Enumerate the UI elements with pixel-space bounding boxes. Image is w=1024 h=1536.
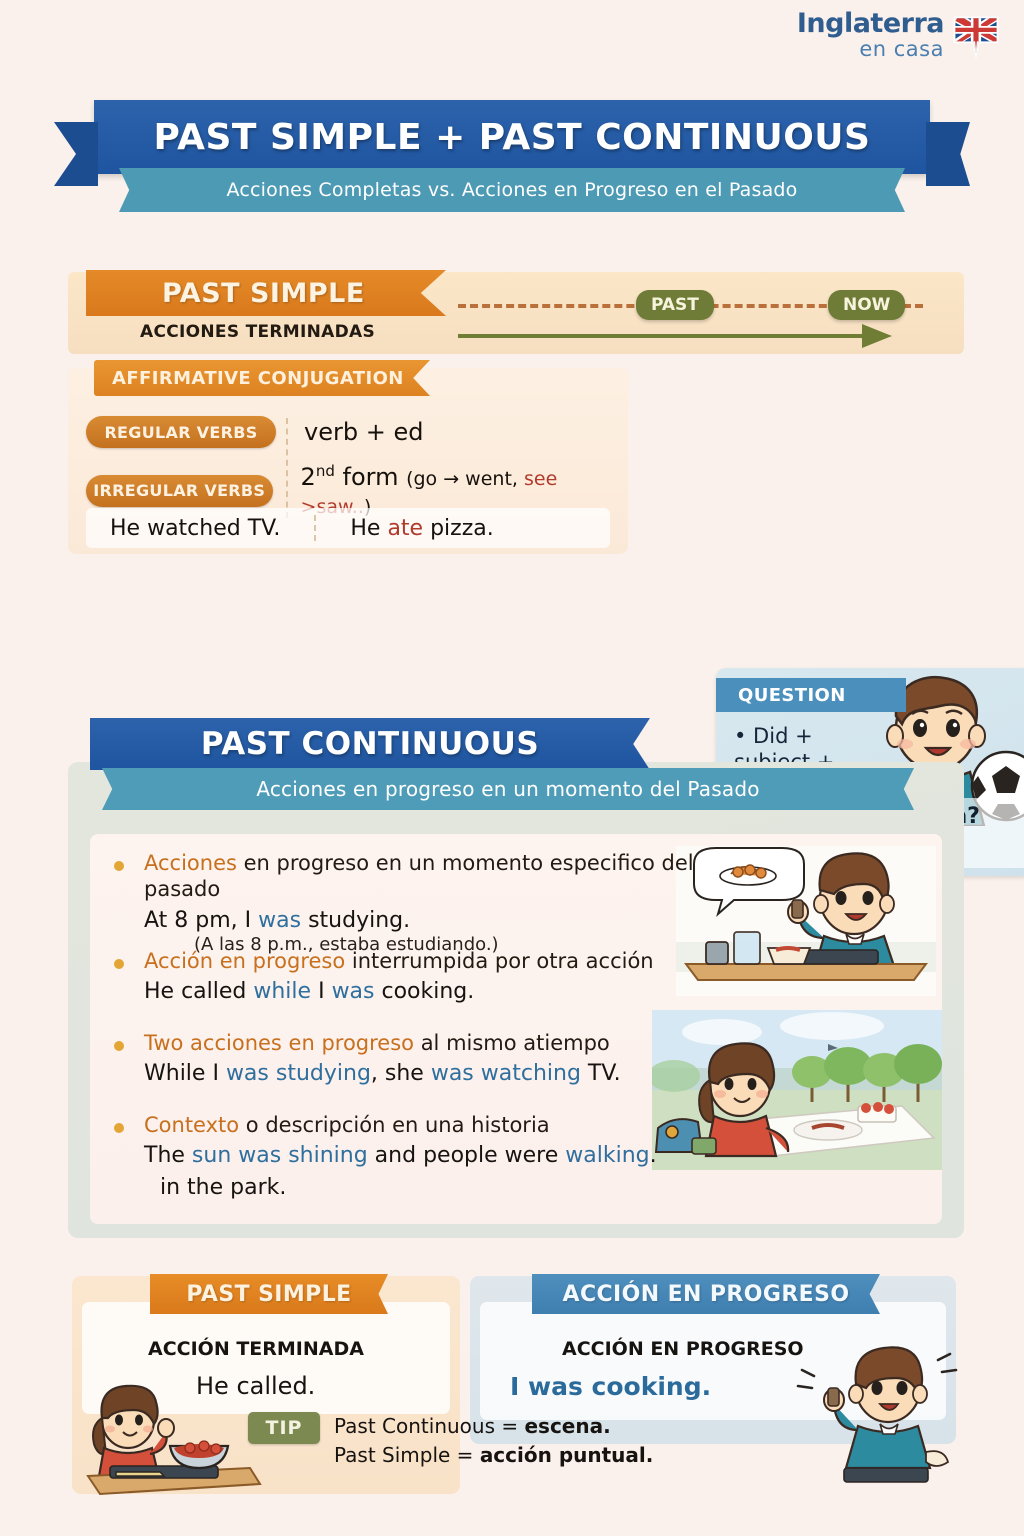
logo-line-2: en casa bbox=[797, 38, 944, 60]
affirmative-tab: AFFIRMATIVE CONJUGATION bbox=[94, 360, 430, 396]
bullet-example: At 8 pm, I was studying. bbox=[144, 907, 734, 935]
affirmative-tab-label: AFFIRMATIVE CONJUGATION bbox=[112, 368, 404, 389]
example-divider bbox=[314, 515, 316, 541]
tip-text: Past Continuous = escena. Past Simple = … bbox=[334, 1412, 653, 1470]
past-simple-tab: PAST SIMPLE bbox=[86, 270, 446, 316]
past-simple-topbar: PAST SIMPLE ACCIONES TERMINADAS PAST NOW bbox=[68, 272, 964, 354]
tip-line2-prefix: Past Simple = bbox=[334, 1443, 480, 1467]
conjugation-examples-row: He watched TV. He ate pizza. bbox=[86, 508, 610, 548]
bullet-example: He called while I was cooking. bbox=[144, 978, 734, 1006]
title-banner: PAST SIMPLE + PAST CONTINUOUS Acciones C… bbox=[0, 100, 1024, 212]
regular-verbs-label: REGULAR VERBS bbox=[86, 416, 276, 448]
logo-line-1: Inglaterra bbox=[797, 10, 944, 38]
comparison-right-tab: ACCIÓN EN PROGRESO bbox=[532, 1274, 880, 1314]
girl-with-bowl-illustration bbox=[74, 1384, 264, 1496]
timeline-arrow-line bbox=[458, 334, 868, 338]
tip-line1-prefix: Past Continuous = bbox=[334, 1414, 524, 1438]
irregular-verbs-label: IRREGULAR VERBS bbox=[86, 475, 273, 507]
uk-flag-icon bbox=[950, 14, 1002, 62]
comparison-left-heading: ACCIÓN TERMINADA bbox=[148, 1338, 364, 1360]
irregular-ordinal-number: 2 bbox=[301, 463, 316, 491]
past-continuous-title: PAST CONTINUOUS bbox=[201, 726, 539, 762]
comparison-left-tab: PAST SIMPLE bbox=[150, 1274, 388, 1314]
timeline-now-pill: NOW bbox=[828, 290, 905, 320]
irregular-example-verb: ate bbox=[387, 516, 423, 541]
timeline-arrow-head-icon bbox=[862, 324, 892, 348]
past-continuous-subtitle: Acciones en progreso en un momento del P… bbox=[128, 768, 888, 810]
comparison-section: ACCIÓN TERMINADA He called. PAST SIMPLE bbox=[72, 1262, 956, 1512]
bullet-dot-icon bbox=[114, 1123, 124, 1133]
timeline-past-pill: PAST bbox=[636, 290, 714, 320]
bullet-dot-icon bbox=[114, 861, 124, 871]
tip-line1-bold: escena. bbox=[524, 1414, 610, 1438]
irregular-example-open: (go → went, bbox=[406, 468, 524, 490]
table-row: REGULAR VERBS verb + ed bbox=[86, 416, 423, 448]
past-simple-tab-label: PAST SIMPLE bbox=[162, 278, 365, 309]
past-continuous-content: Acciones en progreso en un momento espec… bbox=[90, 834, 942, 1224]
bullet-dot-icon bbox=[114, 1041, 124, 1051]
list-item: Two acciones en progreso al mismo atiemp… bbox=[114, 1030, 734, 1088]
tip-line2-bold: acción puntual. bbox=[480, 1443, 654, 1467]
past-continuous-section: PAST CONTINUOUS Acciones en progreso en … bbox=[68, 718, 964, 1238]
regular-example: He watched TV. bbox=[110, 516, 280, 541]
bullet-example-line2: in the park. bbox=[160, 1174, 734, 1202]
regular-verbs-value: verb + ed bbox=[304, 418, 423, 446]
comparison-right-tab-label: ACCIÓN EN PROGRESO bbox=[563, 1282, 850, 1307]
tip-badge: TIP bbox=[248, 1412, 320, 1444]
boy-on-phone-illustration bbox=[792, 1336, 972, 1496]
bullet-heading: Two acciones en progreso al mismo atiemp… bbox=[144, 1030, 734, 1056]
past-simple-section: PAST SIMPLE ACCIONES TERMINADAS PAST NOW… bbox=[68, 272, 964, 354]
bullet-heading: Acción en progreso interrumpida por otra… bbox=[144, 948, 734, 974]
past-continuous-banner: PAST CONTINUOUS bbox=[90, 718, 650, 770]
list-item: Contexto o descripción en una historia T… bbox=[114, 1112, 734, 1201]
question-tab-label: QUESTION bbox=[738, 685, 846, 706]
page-title: PAST SIMPLE + PAST CONTINUOUS bbox=[154, 117, 871, 158]
brand-logo: Inglaterra en casa bbox=[797, 10, 1002, 62]
comparison-left-tab-label: PAST SIMPLE bbox=[186, 1282, 351, 1307]
title-banner-sub: Acciones Completas vs. Acciones en Progr… bbox=[147, 168, 877, 212]
tip-row: TIP Past Continuous = escena. Past Simpl… bbox=[248, 1412, 808, 1470]
question-tab: QUESTION bbox=[716, 678, 906, 712]
past-continuous-subbanner: Acciones en progreso en un momento del P… bbox=[128, 768, 888, 810]
bullet-heading: Contexto o descripción en una historia bbox=[144, 1112, 734, 1138]
list-item: Acción en progreso interrumpida por otra… bbox=[114, 948, 734, 1006]
comparison-right-sentence: I was cooking. bbox=[510, 1372, 711, 1401]
bullet-example: While I was studying, she was watching T… bbox=[144, 1060, 734, 1088]
page-subtitle: Acciones Completas vs. Acciones en Progr… bbox=[226, 179, 797, 201]
comparison-right-heading: ACCIÓN EN PROGRESO bbox=[562, 1338, 804, 1360]
irregular-ordinal-suffix: nd bbox=[316, 462, 335, 480]
bullet-heading: Acciones en progreso en un momento espec… bbox=[144, 850, 734, 903]
list-item: Acciones en progreso en un momento espec… bbox=[114, 850, 734, 955]
irregular-example: He ate pizza. bbox=[350, 516, 493, 541]
affirmative-conjugation-card: AFFIRMATIVE CONJUGATION REGULAR VERBS ve… bbox=[68, 368, 628, 554]
past-simple-timeline: PAST NOW bbox=[458, 286, 948, 346]
past-simple-subtitle: ACCIONES TERMINADAS bbox=[140, 322, 375, 342]
bullet-example: The sun was shining and people were walk… bbox=[144, 1142, 734, 1170]
title-banner-main: PAST SIMPLE + PAST CONTINUOUS bbox=[94, 100, 930, 174]
bullet-dot-icon bbox=[114, 959, 124, 969]
irregular-form-word: form bbox=[335, 463, 406, 491]
